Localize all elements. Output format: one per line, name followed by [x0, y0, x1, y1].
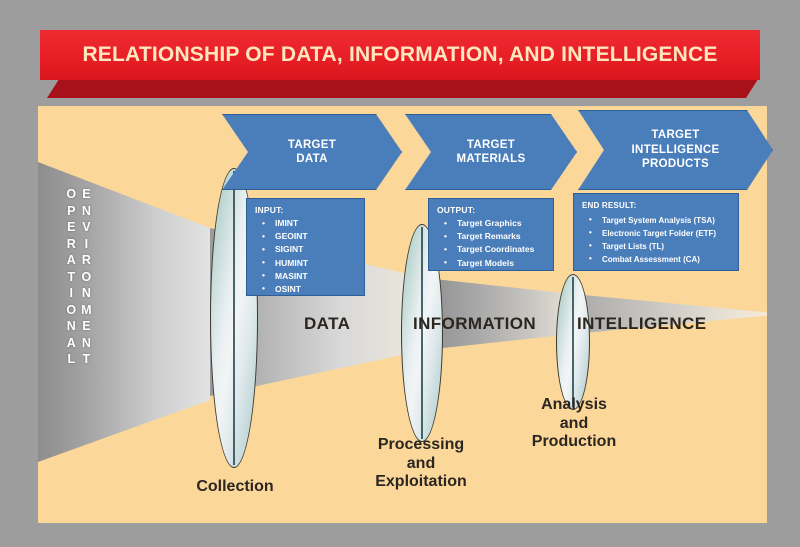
caption-analysis-line3: Production [510, 433, 638, 452]
caption-processing-line2: and [340, 455, 502, 474]
arrow-target-materials-line2: MATERIALS [457, 152, 526, 166]
caption-processing-exploitation: Processing and Exploitation [340, 436, 502, 492]
arrow-target-intel-line3: PRODUCTS [632, 157, 720, 171]
caption-analysis-line2: and [510, 415, 638, 434]
arrow-target-data-line1: TARGET [288, 138, 336, 152]
info-box-input: INPUT: IMINTGEOINTSIGINTHUMINTMASINTOSIN… [246, 198, 365, 296]
operational-environment-label: OPERATIONAL ENVIRONMENT [48, 172, 110, 472]
arrow-target-intel-line1: TARGET [632, 128, 720, 142]
list-item: IMINT [255, 217, 356, 230]
arrow-target-data: TARGET DATA [222, 114, 402, 190]
arrow-target-intelligence-products: TARGET INTELLIGENCE PRODUCTS [578, 110, 773, 190]
stage-label-intelligence: INTELLIGENCE [577, 314, 706, 334]
arrow-target-intel-line2: INTELLIGENCE [632, 143, 720, 157]
caption-analysis-line1: Analysis [510, 396, 638, 415]
list-item: GEOINT [255, 230, 356, 243]
list-item: Electronic Target Folder (ETF) [582, 228, 730, 241]
list-item: Target Coordinates [437, 243, 545, 256]
info-box-end-result-heading: END RESULT: [582, 200, 730, 213]
list-item: Combat Assessment (CA) [582, 254, 730, 267]
info-box-output-list: Target GraphicsTarget RemarksTarget Coor… [437, 217, 545, 270]
list-item: Target Remarks [437, 230, 545, 243]
list-item: HUMINT [255, 257, 356, 270]
list-item: SIGINT [255, 243, 356, 256]
title-banner: RELATIONSHIP OF DATA, INFORMATION, AND I… [40, 30, 760, 80]
caption-processing-line1: Processing [340, 436, 502, 455]
caption-analysis-production: Analysis and Production [510, 396, 638, 452]
list-item: Target Graphics [437, 217, 545, 230]
list-item: Target Lists (TL) [582, 241, 730, 254]
list-item: Target System Analysis (TSA) [582, 215, 730, 228]
caption-collection: Collection [174, 478, 296, 497]
stage-label-data: DATA [304, 314, 350, 334]
page-title: RELATIONSHIP OF DATA, INFORMATION, AND I… [82, 43, 717, 67]
lens-analysis [556, 274, 590, 410]
info-box-output: OUTPUT: Target GraphicsTarget RemarksTar… [428, 198, 554, 271]
info-box-input-heading: INPUT: [255, 205, 356, 215]
list-item: MASINT [255, 270, 356, 283]
caption-collection-line1: Collection [174, 478, 296, 497]
info-box-end-result-list: Target System Analysis (TSA)Electronic T… [582, 215, 730, 267]
caption-processing-line3: Exploitation [340, 473, 502, 492]
environment-word: ENVIRONMENT [81, 186, 91, 472]
diagram-canvas: RELATIONSHIP OF DATA, INFORMATION, AND I… [0, 0, 800, 547]
stage-label-information: INFORMATION [413, 314, 536, 334]
arrow-target-data-line2: DATA [288, 152, 336, 166]
info-box-output-heading: OUTPUT: [437, 205, 545, 215]
info-box-end-result: END RESULT: Target System Analysis (TSA)… [573, 193, 739, 271]
operational-word: OPERATIONAL [66, 186, 76, 472]
list-item: Target Models [437, 257, 545, 270]
arrow-target-materials-line1: TARGET [457, 138, 526, 152]
info-box-input-list: IMINTGEOINTSIGINTHUMINTMASINTOSINT [255, 217, 356, 296]
list-item: OSINT [255, 283, 356, 296]
